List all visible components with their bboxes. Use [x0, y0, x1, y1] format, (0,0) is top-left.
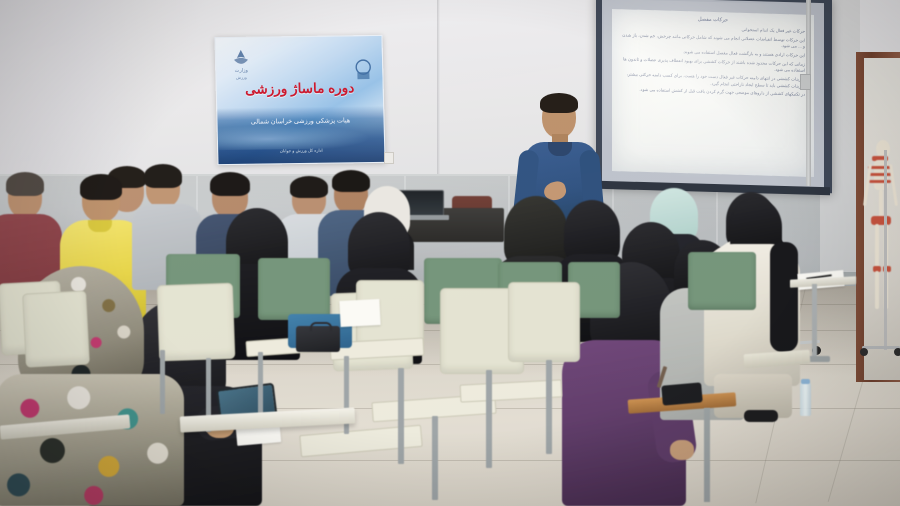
bottle-cap — [801, 379, 810, 384]
woman-braid-cream-coat — [704, 198, 800, 418]
desk-leg — [704, 408, 710, 502]
event-banner: وزارت ورزش دوره ماساژ ورزشی هیات پزشکی و… — [214, 35, 385, 165]
classroom-photo: حرکات مفصل حرکات غیر فعال یک اندام استخو… — [0, 0, 900, 506]
iran-ministry-emblem-icon: وزارت ورزش — [226, 48, 257, 82]
conduit-junction-box — [800, 74, 811, 90]
hair — [144, 164, 182, 188]
hair — [6, 172, 44, 196]
skeleton-stand-base — [862, 346, 900, 354]
woman-floral-headscarf — [0, 266, 186, 506]
projected-slide: حرکات مفصل حرکات غیر فعال یک اندام استخو… — [612, 9, 814, 177]
patterned-shawl — [0, 374, 184, 506]
hair — [210, 172, 250, 196]
presenter-hair — [540, 93, 578, 113]
shoe — [744, 410, 778, 422]
papers-on-desk — [339, 299, 380, 327]
wall-shading — [0, 0, 230, 190]
wall-corner-edge — [437, 0, 440, 190]
banner-title: دوره ماساژ ورزشی — [217, 80, 383, 98]
skeleton-stand-pole — [884, 150, 887, 350]
banner-wave-highlight — [218, 122, 385, 150]
water-bottle[interactable] — [800, 382, 811, 416]
anatomical-skeleton-model — [858, 140, 900, 355]
svg-text:وزارت: وزارت — [235, 68, 249, 74]
svg-text:ورزش: ورزش — [236, 75, 247, 80]
hair — [80, 174, 122, 200]
desk-leg — [812, 284, 817, 358]
collar — [88, 220, 112, 232]
wall-conduit-pipe — [806, 0, 811, 186]
bag-handle — [310, 322, 332, 331]
shoulder-shawl — [770, 242, 798, 352]
hand — [670, 440, 694, 460]
wall-switch[interactable] — [384, 152, 394, 164]
smartphone-on-desk[interactable] — [661, 382, 703, 405]
